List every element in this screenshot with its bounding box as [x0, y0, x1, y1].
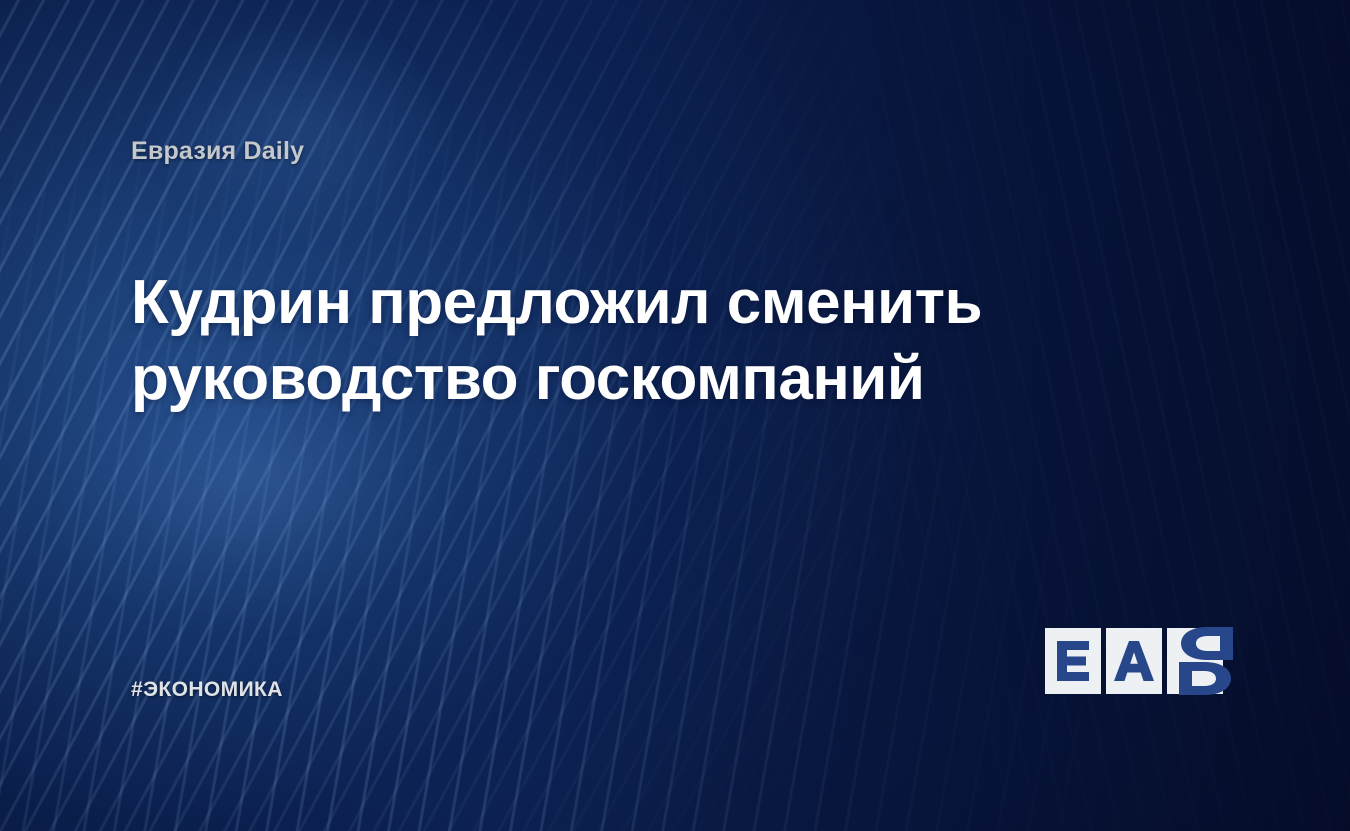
card-content: Евразия Daily Кудрин предложил сменить р…: [0, 0, 1350, 831]
letter-d-icon: [1177, 662, 1235, 695]
logo-tile-e: [1045, 628, 1101, 694]
article-cover-card: Евразия Daily Кудрин предложил сменить р…: [0, 0, 1350, 831]
letter-d-rotated-icon: [1177, 627, 1235, 660]
category-hashtag[interactable]: #ЭКОНОМИКА: [131, 678, 283, 702]
letter-a-icon: [1112, 639, 1156, 683]
page-title: Кудрин предложил сменить руководство гос…: [131, 265, 1031, 417]
logo-tile-d: [1167, 628, 1223, 694]
letter-e-icon: [1053, 639, 1093, 683]
logo-d-wrap: [1167, 628, 1223, 694]
logo-tile-a: [1106, 628, 1162, 694]
eadaily-logo[interactable]: [1045, 628, 1223, 694]
brand-name: Евразия Daily: [131, 137, 304, 166]
